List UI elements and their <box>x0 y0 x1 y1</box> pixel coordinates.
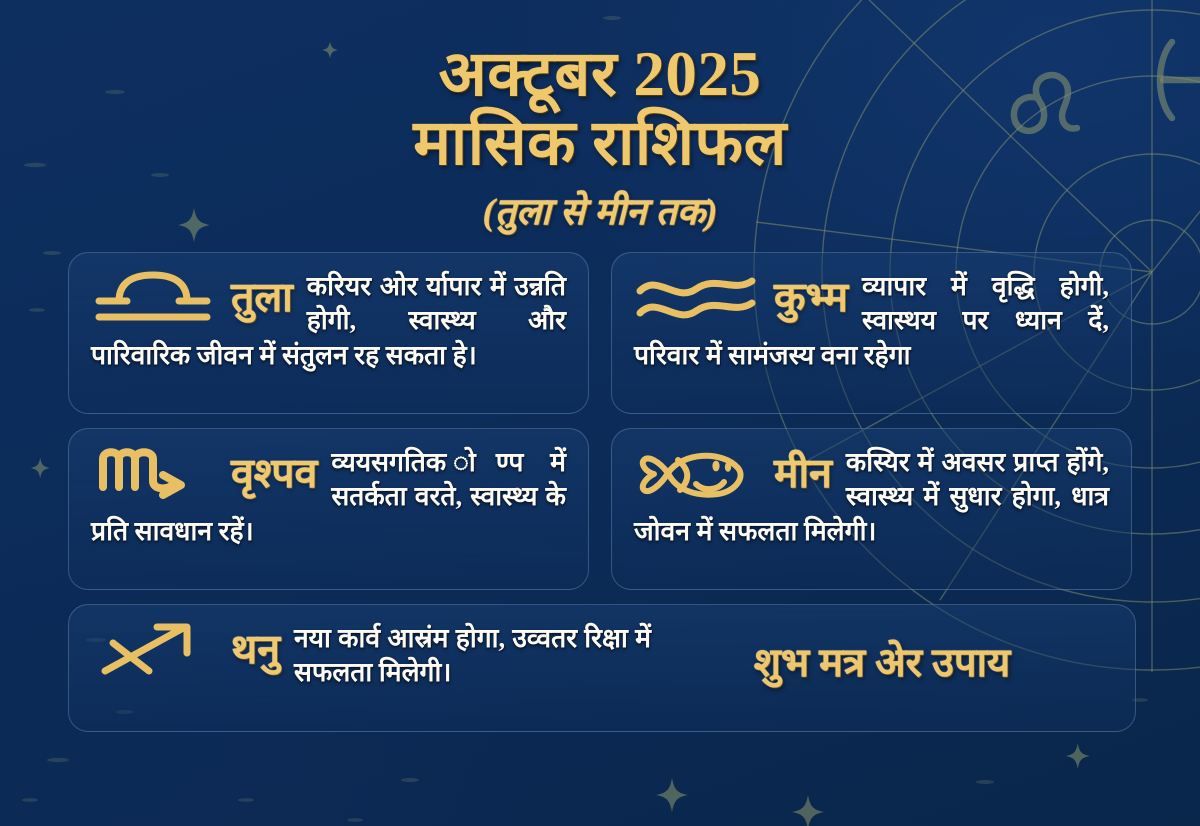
sagittarius-arrow-icon <box>91 621 215 677</box>
sign-name-libra: तुला <box>231 277 293 318</box>
title-line-1: अक्टूबर 2025 <box>0 42 1200 107</box>
mantra-heading: शुभ मत्र अेर उपाय <box>754 643 1010 683</box>
sign-name-aquarius: कुभ्म <box>774 277 848 318</box>
aquarius-waves-icon <box>634 269 758 325</box>
card-row-2: वृश्पव व्ययसगतिक ोण्प में सतर्कता वरते, … <box>68 428 1136 590</box>
card-head-sagittarius: थनु <box>91 621 280 677</box>
scorpio-glyph-icon <box>91 445 215 501</box>
zodiac-card-scorpio[interactable]: वृश्पव व्ययसगतिक ोण्प में सतर्कता वरते, … <box>68 428 589 590</box>
zodiac-card-grid: तुला करियर ओर र्यापार में उन्नति होगी, स… <box>68 252 1136 746</box>
zodiac-card-aquarius[interactable]: कुभ्म व्यापार में वृद्धि होगी, स्वास्थय … <box>611 252 1132 414</box>
zodiac-card-sagittarius[interactable]: थनु नया कार्व आस्रंम होगा, उव्वतर रिक्षा… <box>68 604 1136 732</box>
zodiac-card-pisces[interactable]: मीन कस्यिर में अवसर प्राप्त हाेंगे, स्वा… <box>611 428 1132 590</box>
card-row-3: थनु नया कार्व आस्रंम होगा, उव्वतर रिक्षा… <box>68 604 1136 732</box>
sign-name-scorpio: वृश्पव <box>231 453 317 494</box>
card-head-aquarius: कुभ्म <box>634 269 848 325</box>
sagittarius-block: थनु नया कार्व आस्रंम होगा, उव्वतर रिक्षा… <box>91 621 651 690</box>
card-head-pisces: मीन <box>634 445 832 501</box>
poster-subtitle: (तुला से मीन तक) <box>0 184 1200 235</box>
card-head-scorpio: वृश्पव <box>91 445 317 501</box>
libra-glyph-icon <box>91 269 215 325</box>
card-row-1: तुला करियर ओर र्यापार में उन्नति होगी, स… <box>68 252 1136 414</box>
sign-name-sagittarius: थनु <box>231 629 280 670</box>
zodiac-card-libra[interactable]: तुला करियर ओर र्यापार में उन्नति होगी, स… <box>68 252 589 414</box>
pisces-fish-icon <box>634 445 758 501</box>
title-line-2: मासिक राशिफल <box>0 111 1200 176</box>
horoscope-poster: अक्टूबर 2025 मासिक राशिफल (तुला से मीन त… <box>0 0 1200 826</box>
poster-header: अक्टूबर 2025 मासिक राशिफल (तुला से मीन त… <box>0 42 1200 235</box>
sign-name-pisces: मीन <box>774 453 832 494</box>
mantra-section: शुभ मत्र अेर उपाय <box>651 621 1113 683</box>
card-head-libra: तुला <box>91 269 293 325</box>
